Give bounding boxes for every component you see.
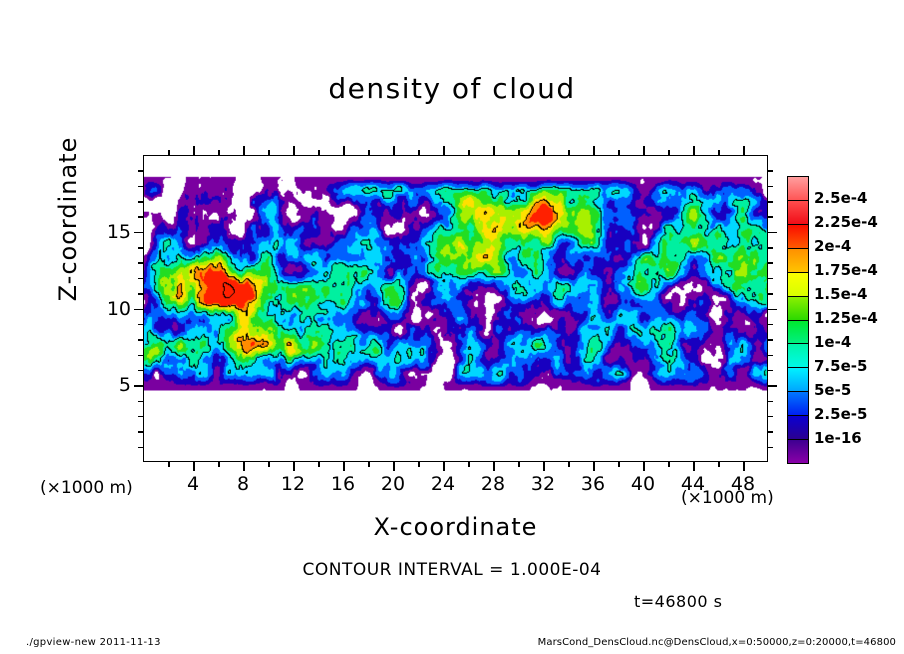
x-minor-tick: [518, 462, 520, 467]
x-tick-label: 4: [187, 473, 199, 495]
x-tick-label: 36: [581, 473, 605, 495]
x-major-tick-top: [593, 146, 595, 155]
colorbar-label: 2.25e-4: [814, 213, 878, 231]
colorbar-label: 1.25e-4: [814, 309, 878, 327]
footer-dataset: MarsCond_DensCloud.nc@DensCloud,x=0:5000…: [538, 637, 896, 648]
x-minor-tick: [668, 462, 670, 467]
y-minor-tick: [138, 431, 143, 433]
contour-interval-note: CONTOUR INTERVAL = 1.000E-04: [0, 560, 904, 580]
colorbar: [787, 176, 809, 464]
x-minor-tick: [718, 462, 720, 467]
y-minor-tick-right: [768, 339, 773, 341]
x-major-tick-top: [293, 146, 295, 155]
y-minor-tick-right: [768, 201, 773, 203]
x-tick-label: 20: [381, 473, 405, 495]
plot-area: [143, 155, 768, 462]
y-tick-label: 5: [91, 374, 131, 396]
colorbar-band-7: [788, 344, 808, 368]
colorbar-band-1: [788, 201, 808, 225]
x-major-tick-top: [343, 146, 345, 155]
colorbar-band-9: [788, 392, 808, 416]
x-minor-tick-top: [318, 150, 320, 155]
x-major-tick: [193, 462, 195, 471]
x-major-tick-top: [393, 146, 395, 155]
y-minor-tick-right: [768, 416, 773, 418]
x-major-tick-top: [743, 146, 745, 155]
x-minor-tick-top: [618, 150, 620, 155]
y-axis-label: Z-coordinate: [54, 109, 82, 329]
y-minor-tick-right: [768, 293, 773, 295]
colorbar-label: 1.75e-4: [814, 261, 878, 279]
x-minor-tick: [168, 462, 170, 467]
y-minor-tick: [138, 339, 143, 341]
y-minor-tick-right: [768, 355, 773, 357]
x-minor-tick-top: [518, 150, 520, 155]
x-minor-tick-top: [668, 150, 670, 155]
x-minor-tick: [618, 462, 620, 467]
colorbar-label: 1.5e-4: [814, 285, 867, 303]
y-major-tick-right: [768, 309, 777, 311]
x-minor-tick-top: [718, 150, 720, 155]
colorbar-band-11: [788, 440, 808, 463]
colorbar-band-6: [788, 321, 808, 345]
colorbar-label: 2e-4: [814, 237, 851, 255]
z-axis-unit-label: (×1000 m): [40, 478, 133, 498]
x-major-tick: [343, 462, 345, 471]
x-major-tick: [293, 462, 295, 471]
x-major-tick: [643, 462, 645, 471]
y-minor-tick-right: [768, 247, 773, 249]
plot-page: density of cloud 48121620242832364044485…: [0, 0, 904, 654]
x-minor-tick: [568, 462, 570, 467]
colorbar-band-8: [788, 368, 808, 392]
x-tick-label: 32: [531, 473, 555, 495]
y-tick-label: 15: [91, 221, 131, 243]
colorbar-label: 1e-4: [814, 333, 851, 351]
x-minor-tick-top: [568, 150, 570, 155]
colorbar-band-10: [788, 416, 808, 440]
x-major-tick: [493, 462, 495, 471]
colorbar-band-5: [788, 297, 808, 321]
y-minor-tick-right: [768, 401, 773, 403]
y-minor-tick-right: [768, 324, 773, 326]
y-minor-tick: [138, 370, 143, 372]
y-tick-label: 10: [91, 298, 131, 320]
x-minor-tick-top: [468, 150, 470, 155]
y-minor-tick: [138, 262, 143, 264]
x-minor-tick-top: [418, 150, 420, 155]
y-minor-tick: [138, 216, 143, 218]
x-major-tick-top: [643, 146, 645, 155]
x-minor-tick-top: [218, 150, 220, 155]
x-tick-label: 12: [281, 473, 305, 495]
y-minor-tick-right: [768, 447, 773, 449]
y-minor-tick: [138, 278, 143, 280]
colorbar-label: 2.5e-4: [814, 189, 867, 207]
time-label: t=46800 s: [634, 592, 723, 611]
x-tick-label: 28: [481, 473, 505, 495]
x-axis-label: X-coordinate: [143, 513, 768, 541]
x-minor-tick: [418, 462, 420, 467]
cloud-density-field: [144, 156, 767, 461]
y-minor-tick-right: [768, 431, 773, 433]
x-tick-label: 16: [331, 473, 355, 495]
x-minor-tick-top: [168, 150, 170, 155]
x-major-tick: [543, 462, 545, 471]
colorbar-band-2: [788, 225, 808, 249]
y-minor-tick: [138, 447, 143, 449]
y-major-tick: [134, 309, 143, 311]
y-minor-tick-right: [768, 278, 773, 280]
x-major-tick: [743, 462, 745, 471]
y-minor-tick: [138, 416, 143, 418]
y-minor-tick: [138, 324, 143, 326]
x-tick-label: 24: [431, 473, 455, 495]
x-minor-tick: [318, 462, 320, 467]
y-major-tick: [134, 385, 143, 387]
colorbar-band-4: [788, 273, 808, 297]
colorbar-label: 7.5e-5: [814, 357, 867, 375]
footer-command: ./gpview-new 2011-11-13: [26, 637, 161, 648]
x-tick-label: 40: [631, 473, 655, 495]
y-minor-tick-right: [768, 186, 773, 188]
x-major-tick-top: [243, 146, 245, 155]
x-major-tick-top: [493, 146, 495, 155]
colorbar-band-0: [788, 177, 808, 201]
colorbar-label: 1e-16: [814, 429, 862, 447]
y-minor-tick: [138, 186, 143, 188]
colorbar-label: 5e-5: [814, 381, 851, 399]
x-major-tick-top: [193, 146, 195, 155]
y-minor-tick-right: [768, 216, 773, 218]
x-major-tick: [243, 462, 245, 471]
y-minor-tick: [138, 201, 143, 203]
x-minor-tick: [468, 462, 470, 467]
colorbar-label: 2.5e-5: [814, 405, 867, 423]
x-major-tick: [393, 462, 395, 471]
x-major-tick: [593, 462, 595, 471]
y-major-tick-right: [768, 385, 777, 387]
x-major-tick-top: [543, 146, 545, 155]
colorbar-band-3: [788, 249, 808, 273]
y-minor-tick: [138, 170, 143, 172]
x-minor-tick-top: [368, 150, 370, 155]
x-tick-label: 8: [237, 473, 249, 495]
y-minor-tick: [138, 401, 143, 403]
x-minor-tick-top: [268, 150, 270, 155]
y-major-tick: [134, 232, 143, 234]
y-minor-tick-right: [768, 170, 773, 172]
x-axis-unit-label: (×1000 m): [681, 488, 774, 508]
x-minor-tick: [268, 462, 270, 467]
y-minor-tick: [138, 355, 143, 357]
x-minor-tick: [218, 462, 220, 467]
x-major-tick: [443, 462, 445, 471]
x-major-tick: [693, 462, 695, 471]
y-minor-tick: [138, 247, 143, 249]
x-major-tick-top: [443, 146, 445, 155]
y-minor-tick: [138, 293, 143, 295]
x-major-tick-top: [693, 146, 695, 155]
y-minor-tick-right: [768, 262, 773, 264]
x-minor-tick: [368, 462, 370, 467]
colorbar-labels: 2.5e-42.25e-42e-41.75e-41.5e-41.25e-41e-…: [814, 176, 904, 464]
y-major-tick-right: [768, 232, 777, 234]
page-title: density of cloud: [0, 72, 904, 105]
y-minor-tick-right: [768, 370, 773, 372]
